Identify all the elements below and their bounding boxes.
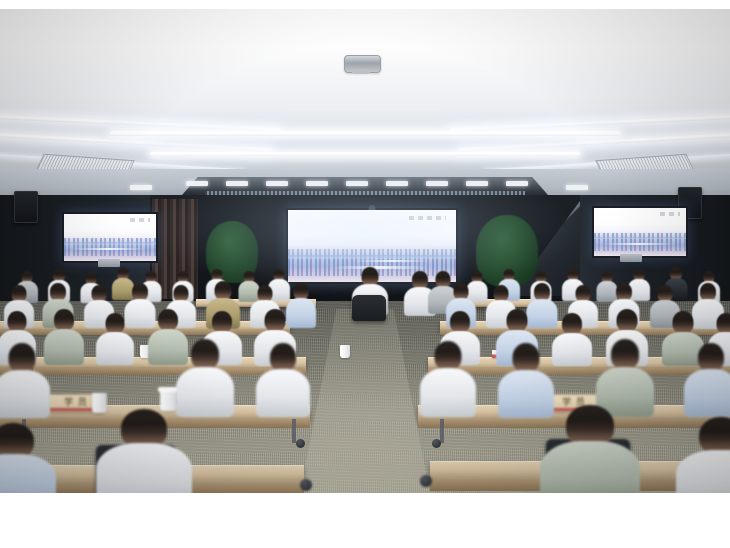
foreground-attendee-right bbox=[540, 405, 640, 493]
conference-room-photo: 学 员 学 员 bbox=[0, 9, 730, 493]
left-screen-content bbox=[64, 214, 156, 261]
left-side-screen[interactable] bbox=[62, 212, 158, 263]
ceiling-speaker-base bbox=[352, 69, 370, 74]
attendee bbox=[596, 339, 654, 415]
right-screen-watermark bbox=[660, 212, 680, 216]
foreground-attendee-left bbox=[96, 409, 192, 493]
foreground-attendee-far-right bbox=[676, 417, 730, 493]
desk-leg bbox=[440, 419, 444, 443]
soffit-downlight bbox=[186, 181, 208, 186]
attendee bbox=[176, 339, 234, 415]
photo-page: 学 员 学 员 bbox=[0, 0, 730, 548]
attendee bbox=[256, 343, 310, 415]
right-side-screen[interactable] bbox=[592, 206, 688, 258]
ceiling-light-strip bbox=[150, 152, 580, 156]
desk-caster bbox=[432, 439, 441, 448]
left-screen-mount bbox=[98, 259, 120, 267]
attendee bbox=[684, 343, 730, 415]
left-screen-watermark bbox=[130, 218, 150, 222]
right-screen-mount bbox=[620, 254, 642, 262]
ceiling-light-strip bbox=[110, 131, 620, 136]
soffit-downlight bbox=[466, 181, 488, 186]
chair-caster bbox=[420, 475, 432, 487]
desk-leg bbox=[292, 419, 296, 443]
soffit-downlight bbox=[226, 181, 248, 186]
attendee bbox=[552, 313, 592, 365]
soffit-downlight bbox=[566, 185, 588, 190]
right-screen-content bbox=[594, 208, 686, 256]
left-wall-speaker-icon bbox=[14, 191, 38, 223]
soffit-downlight bbox=[306, 181, 328, 186]
chair-caster bbox=[300, 479, 312, 491]
soffit-downlight bbox=[506, 181, 528, 186]
desk-caster bbox=[296, 439, 305, 448]
front-attendee-chair bbox=[352, 295, 386, 321]
foreground-attendee-far-left bbox=[0, 423, 56, 493]
soffit-downlight bbox=[266, 181, 288, 186]
placard-left-text: 学 员 bbox=[64, 399, 88, 408]
attendee bbox=[0, 343, 50, 415]
attendee bbox=[44, 309, 84, 364]
soffit-downlight bbox=[130, 185, 152, 190]
attendee bbox=[96, 313, 134, 364]
attendee bbox=[420, 341, 476, 415]
paper-cup bbox=[160, 389, 177, 411]
soffit-downlight bbox=[426, 181, 448, 186]
soffit-downlight bbox=[386, 181, 408, 186]
soffit-downlight bbox=[346, 181, 368, 186]
paper-cup bbox=[340, 345, 350, 358]
main-screen-watermark bbox=[409, 216, 446, 220]
